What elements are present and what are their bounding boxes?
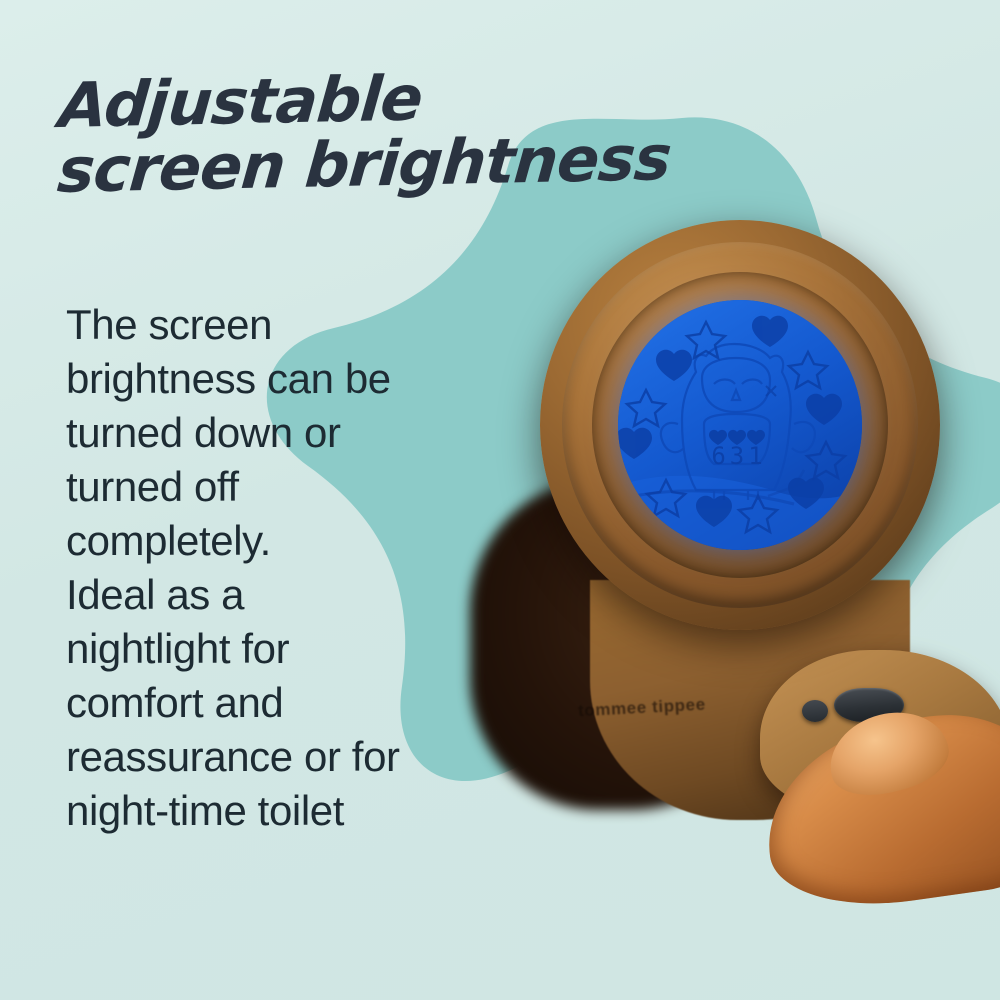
- body-line-8: comfort and: [66, 676, 486, 730]
- product-screen[interactable]: 631: [618, 300, 862, 550]
- product-head-shell: 631: [540, 220, 940, 630]
- body-line-2: brightness can be: [66, 352, 486, 406]
- body-line-1: The screen: [66, 298, 486, 352]
- body-line-4: turned off: [66, 460, 486, 514]
- body-line-10: night-time toilet: [66, 784, 486, 838]
- body-line-3: turned down or: [66, 406, 486, 460]
- product-feature-image: Adjustable screen brightness The screen …: [0, 0, 1000, 1000]
- body-line-6: Ideal as a: [66, 568, 486, 622]
- body-line-5: completely.: [66, 514, 486, 568]
- mode-button[interactable]: [802, 700, 828, 722]
- body-line-9: reassurance or for: [66, 730, 486, 784]
- product-photo: 631: [430, 180, 1000, 820]
- screen-artwork: 631: [618, 300, 862, 550]
- clock-time: 631: [711, 442, 766, 470]
- body-line-7: nightlight for: [66, 622, 486, 676]
- body-copy: The screen brightness can be turned down…: [66, 298, 486, 838]
